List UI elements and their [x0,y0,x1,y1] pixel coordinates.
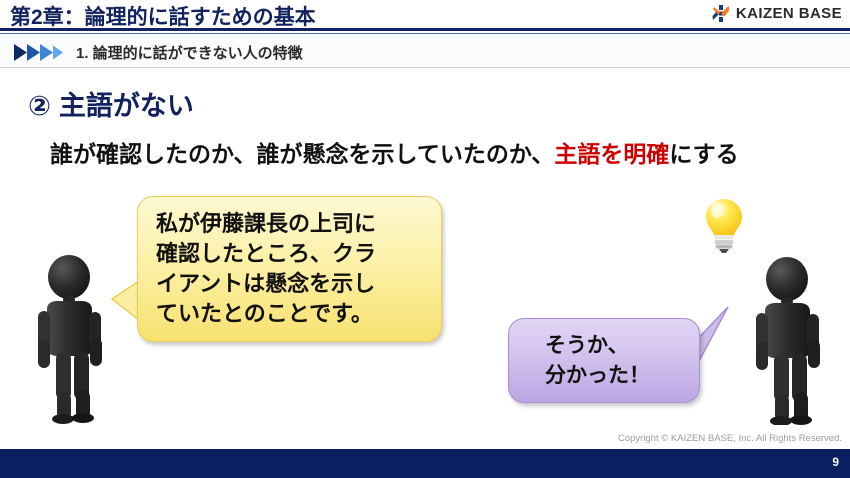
kaizen-logo-mark-icon [711,4,731,23]
copyright-notice: Copyright © KAIZEN BASE, Inc. All Rights… [618,433,842,444]
point-heading-text: 主語がない [59,84,194,123]
slide-canvas: 第2章：論理的に話すための基本 KAIZEN BASE 1. 論理的に話ができな… [0,0,850,478]
lead-sentence-part-1: 誰が確認したのか、誰が懸念を示していたのか、 [50,141,554,167]
slide-header: 第2章：論理的に話すための基本 KAIZEN BASE [0,0,850,28]
lead-sentence: 誰が確認したのか、誰が懸念を示していたのか、主語を明確にする [50,135,739,169]
lead-sentence-part-2: にする [669,141,738,167]
header-rule-thick [0,28,850,31]
header-rule-thin [0,33,850,34]
lightbulb-icon [700,196,748,259]
speech-bubble-purple: そうか、 分かった！ [508,318,700,403]
point-heading-number: ② [28,91,51,122]
section-band-underline [0,67,850,68]
speech-bubble-yellow-text: 私が伊藤課長の上司に 確認したところ、クラ イアントは懸念を示し ていたとのこと… [156,209,376,329]
brand-logo: KAIZEN BASE [711,4,842,23]
chapter-title: 第2章：論理的に話すための基本 [10,1,316,31]
brand-logo-text: KAIZEN BASE [736,5,842,22]
page-number: 9 [832,455,839,469]
triple-chevron-right-icon [14,44,68,61]
lead-sentence-accent: 主語を明確 [554,141,669,167]
person-figure-listener [745,255,850,430]
section-title: 1. 論理的に話ができない人の特徴 [76,42,303,63]
speech-bubble-purple-text: そうか、 分かった！ [545,331,650,391]
speech-bubble-yellow: 私が伊藤課長の上司に 確認したところ、クラ イアントは懸念を示し ていたとのこと… [137,196,442,342]
point-heading: ② 主語がない [28,84,194,123]
footer-bar [0,449,850,478]
